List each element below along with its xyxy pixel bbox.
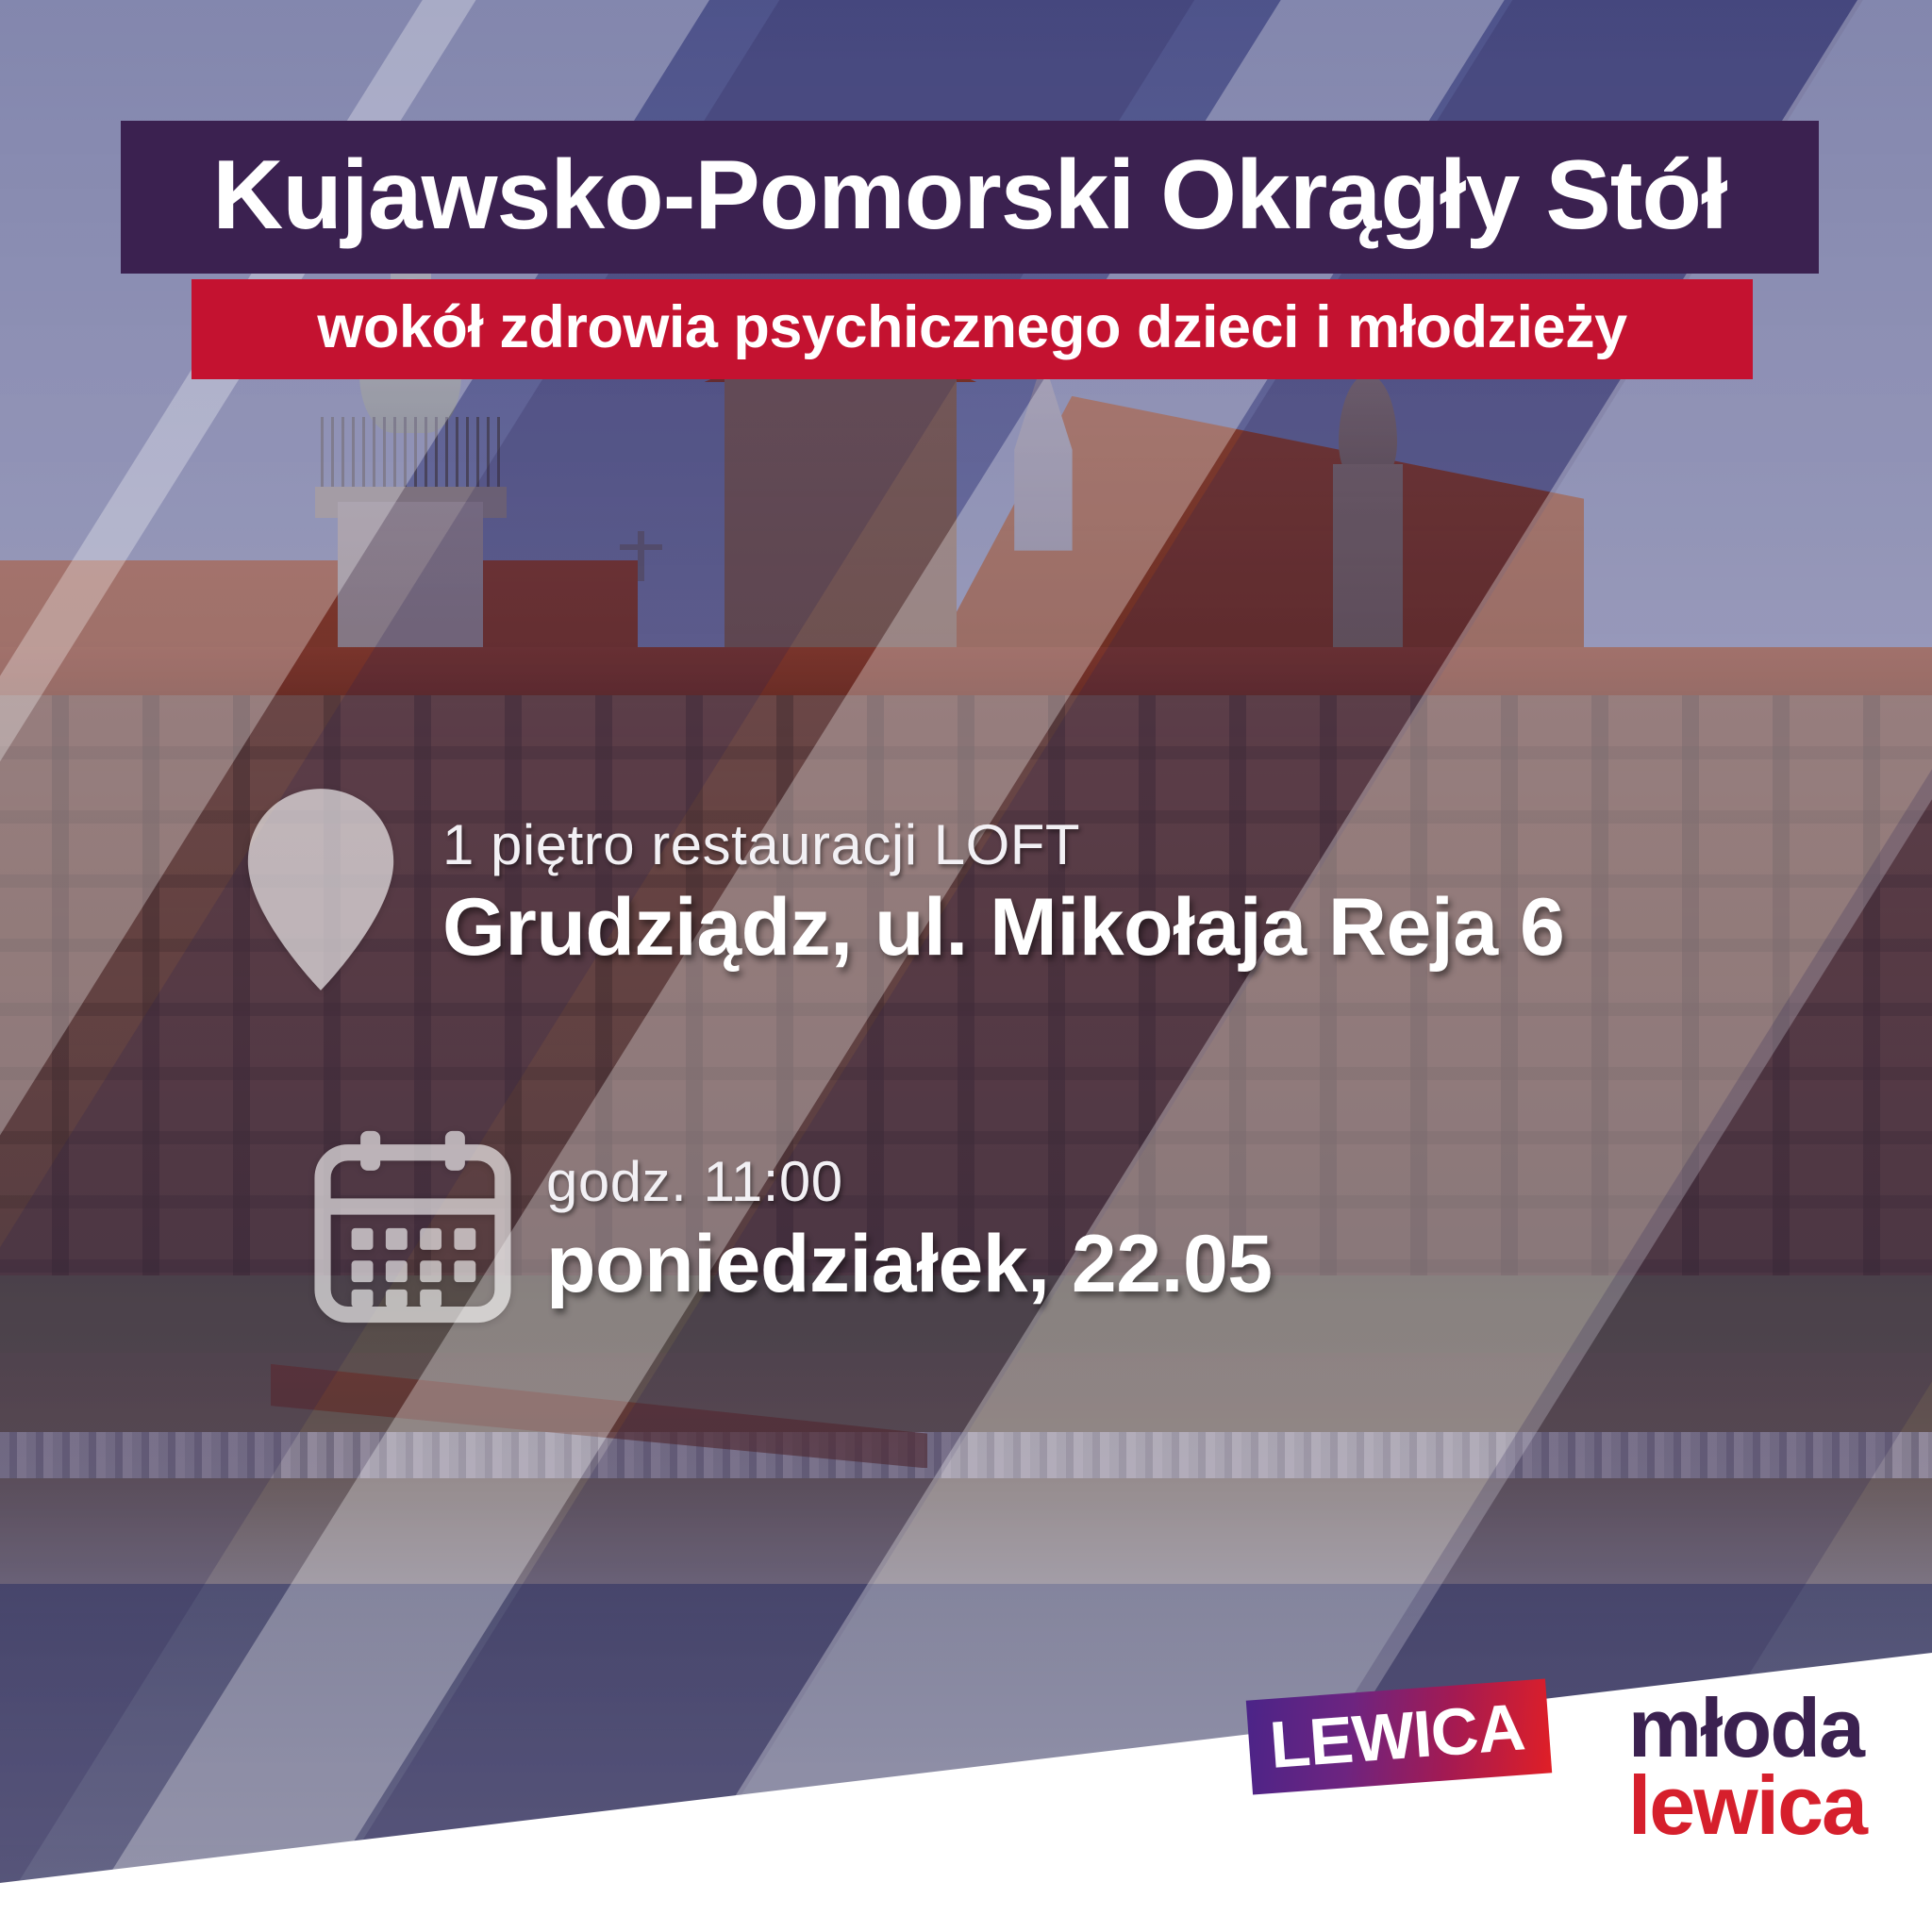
- place-info-row: 1 piętro restauracji LOFT Grudziądz, ul.…: [231, 781, 1564, 1003]
- place-secondary: 1 piętro restauracji LOFT: [442, 817, 1564, 874]
- date-primary: poniedziałek, 22.05: [546, 1224, 1273, 1305]
- subtitle-bar: wokół zdrowia psychicznego dzieci i młod…: [192, 279, 1753, 379]
- mloda-lewica-line2: lewica: [1628, 1767, 1866, 1845]
- mloda-lewica-line1: młoda: [1628, 1690, 1866, 1768]
- lewica-logo[interactable]: LEWICA: [1246, 1678, 1553, 1794]
- date-text: godz. 11:00 poniedziałek, 22.05: [546, 1154, 1273, 1305]
- lewica-logo-label: LEWICA: [1267, 1693, 1525, 1778]
- place-text: 1 piętro restauracji LOFT Grudziądz, ul.…: [442, 817, 1564, 968]
- place-primary: Grudziądz, ul. Mikołaja Reja 6: [442, 887, 1564, 968]
- mloda-lewica-logo[interactable]: młoda lewica: [1628, 1690, 1866, 1845]
- date-secondary: godz. 11:00: [546, 1154, 1273, 1210]
- logo-group: LEWICA młoda lewica: [1249, 1690, 1866, 1845]
- map-pin-icon: [231, 781, 410, 1003]
- title-bar: Kujawsko-Pomorski Okrągły Stół: [121, 121, 1819, 274]
- date-info-row: godz. 11:00 poniedziałek, 22.05: [311, 1127, 1273, 1330]
- event-poster: Kujawsko-Pomorski Okrągły Stół wokół zdr…: [0, 0, 1932, 1932]
- calendar-icon: [311, 1127, 514, 1330]
- page-subtitle: wokół zdrowia psychicznego dzieci i młod…: [216, 296, 1728, 358]
- page-title: Kujawsko-Pomorski Okrągły Stół: [153, 145, 1787, 245]
